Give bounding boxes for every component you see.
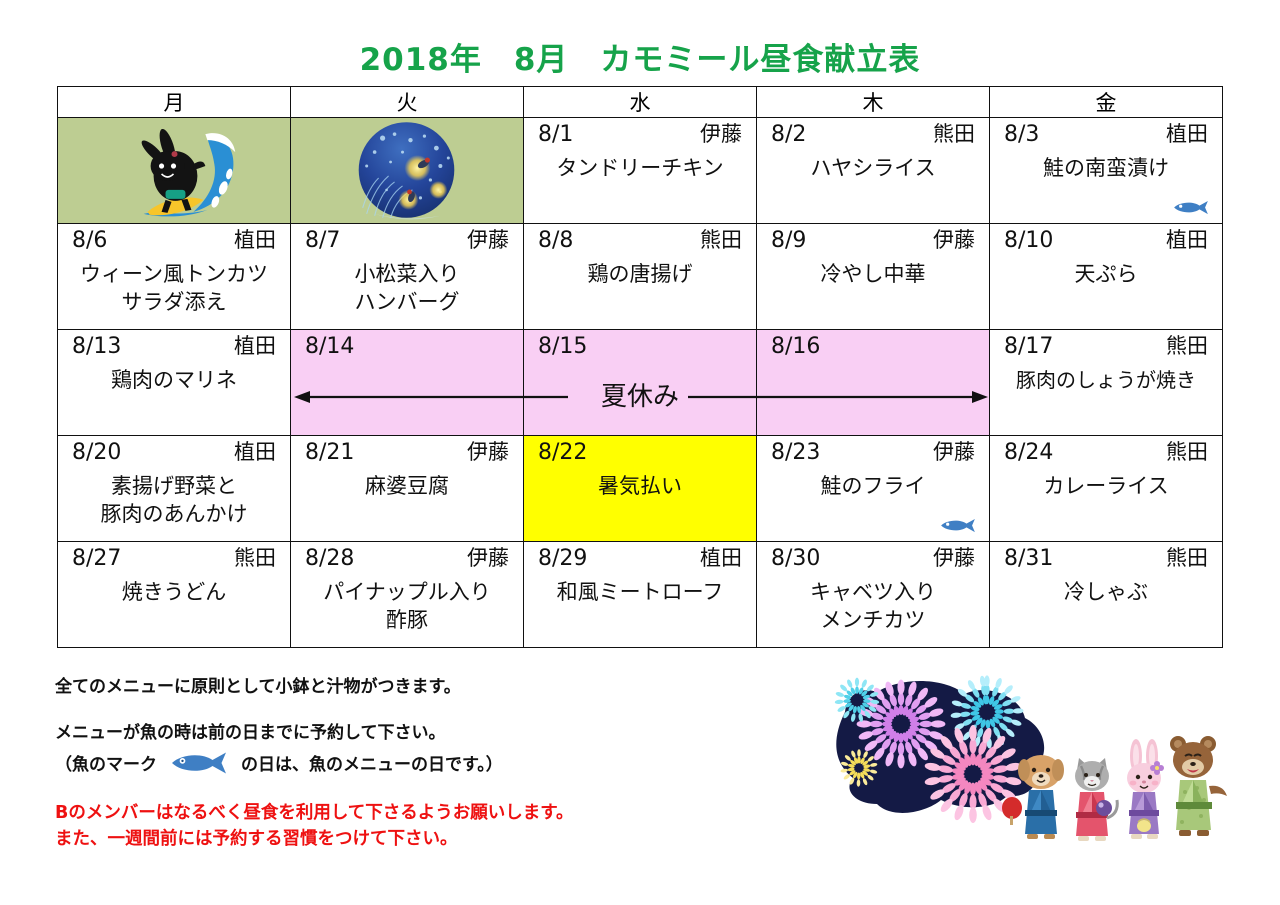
- weekday-header-wed: 水: [524, 87, 757, 118]
- cell-dateline: 8/20 植田: [58, 436, 290, 465]
- calendar-cell-08-20: 8/20 植田 素揚げ野菜と 豚肉のあんかけ: [58, 436, 291, 542]
- cell-staff: 熊田: [1166, 546, 1208, 570]
- cell-date: 8/8: [538, 228, 573, 253]
- rabbit-in-yukata: [1127, 739, 1164, 839]
- cell-menu: 天ぷら: [990, 261, 1222, 289]
- cell-menu: 暑気払い: [524, 473, 756, 501]
- cell-menu: 和風ミートローフ: [524, 579, 756, 607]
- calendar-cell-08-24: 8/24 熊田 カレーライス: [990, 436, 1223, 542]
- cell-dateline: 8/23 伊藤: [757, 436, 989, 465]
- fish-icon: [167, 751, 231, 775]
- cell-staff: 熊田: [1166, 440, 1208, 464]
- note-line-3: （魚のマーク の日は、魚のメニューの日です。）: [55, 750, 815, 775]
- calendar-week-row: 8/27 熊田 焼きうどん 8/28 伊藤 パイナップル入り 酢豚 8/29 植: [58, 542, 1223, 648]
- cell-date: 8/1: [538, 122, 573, 147]
- cell-menu: 麻婆豆腐: [291, 473, 523, 501]
- fish-icon: [1172, 200, 1210, 215]
- cell-staff: 植田: [1166, 122, 1208, 146]
- surfing-rabbit-icon: [58, 118, 290, 223]
- fish-icon: [939, 518, 977, 533]
- cell-dateline: 8/27 熊田: [58, 542, 290, 571]
- cell-date: 8/13: [72, 334, 121, 359]
- note-fish-suffix: の日は、魚のメニューの日です。）: [241, 750, 503, 775]
- cell-staff: 熊田: [700, 228, 742, 252]
- cell-staff: 伊藤: [700, 122, 742, 146]
- cell-staff: 植田: [700, 546, 742, 570]
- calendar-cell-08-14-holiday: 8/14: [291, 330, 524, 436]
- cell-dateline: 8/14: [291, 330, 523, 359]
- cell-date: 8/15: [538, 334, 587, 359]
- notes-section: 全てのメニューに原則として小鉢と汁物がつきます。 メニューが魚の時は前の日までに…: [55, 676, 815, 852]
- cell-menu: カレーライス: [990, 473, 1222, 501]
- calendar-cell-08-17: 8/17 熊田 豚肉のしょうが焼き: [990, 330, 1223, 436]
- cell-staff: 伊藤: [467, 440, 509, 464]
- cell-staff: 植田: [234, 440, 276, 464]
- cell-dateline: 8/15: [524, 330, 756, 359]
- cell-staff: 熊田: [234, 546, 276, 570]
- cell-menu: 鮭の南蛮漬け: [990, 155, 1222, 183]
- cell-dateline: 8/24 熊田: [990, 436, 1222, 465]
- cell-date: 8/2: [771, 122, 806, 147]
- cell-date: 8/14: [305, 334, 354, 359]
- cell-dateline: 8/17 熊田: [990, 330, 1222, 359]
- cell-staff: 熊田: [1166, 334, 1208, 358]
- weekday-header-mon: 月: [58, 87, 291, 118]
- cell-dateline: 8/16: [757, 330, 989, 359]
- cell-menu: タンドリーチキン: [524, 155, 756, 183]
- weekday-header-row: 月 火 水 木 金: [58, 87, 1223, 118]
- cell-menu: キャベツ入り メンチカツ: [757, 579, 989, 634]
- cell-date: 8/29: [538, 546, 587, 571]
- calendar-cell-08-06: 8/6 植田 ウィーン風トンカツ サラダ添え: [58, 224, 291, 330]
- cell-staff: 伊藤: [933, 228, 975, 252]
- cell-staff: 伊藤: [467, 228, 509, 252]
- calendar-cell-08-23: 8/23 伊藤 鮭のフライ: [757, 436, 990, 542]
- cell-dateline: 8/28 伊藤: [291, 542, 523, 571]
- cell-dateline: 8/29 植田: [524, 542, 756, 571]
- cell-dateline: 8/10 植田: [990, 224, 1222, 253]
- calendar-cell-08-27: 8/27 熊田 焼きうどん: [58, 542, 291, 648]
- cell-dateline: 8/9 伊藤: [757, 224, 989, 253]
- cat-in-yukata: [1075, 758, 1117, 841]
- cell-dateline: 8/1 伊藤: [524, 118, 756, 147]
- calendar-cell-08-31: 8/31 熊田 冷しゃぶ: [990, 542, 1223, 648]
- calendar-cell-08-30: 8/30 伊藤 キャベツ入り メンチカツ: [757, 542, 990, 648]
- firefly-night-icon: [291, 118, 523, 223]
- cell-dateline: 8/31 熊田: [990, 542, 1222, 571]
- calendar-cell-08-02: 8/2 熊田 ハヤシライス: [757, 118, 990, 224]
- weekday-header-thu: 木: [757, 87, 990, 118]
- calendar-week-row: 8/13 植田 鶏肉のマリネ 8/14 8/15 夏休み: [58, 330, 1223, 436]
- calendar-cell-illustration-surf: [58, 118, 291, 224]
- cell-dateline: 8/6 植田: [58, 224, 290, 253]
- cell-menu: 冷しゃぶ: [990, 579, 1222, 607]
- weekday-header-fri: 金: [990, 87, 1223, 118]
- calendar-cell-08-10: 8/10 植田 天ぷら: [990, 224, 1223, 330]
- cell-staff: 植田: [1166, 228, 1208, 252]
- cell-date: 8/30: [771, 546, 820, 571]
- calendar-cell-08-07: 8/7 伊藤 小松菜入り ハンバーグ: [291, 224, 524, 330]
- note-red-request: Bのメンバーはなるべく昼食を利用して下さるようお願いします。 また、一週間前には…: [55, 801, 815, 852]
- summer-break-label: 夏休み: [524, 376, 756, 413]
- cell-date: 8/28: [305, 546, 354, 571]
- calendar-cell-08-28: 8/28 伊藤 パイナップル入り 酢豚: [291, 542, 524, 648]
- cell-staff: 伊藤: [467, 546, 509, 570]
- cell-date: 8/22: [538, 440, 587, 465]
- cell-date: 8/24: [1004, 440, 1053, 465]
- cell-dateline: 8/13 植田: [58, 330, 290, 359]
- cell-staff: 熊田: [933, 122, 975, 146]
- cell-menu: パイナップル入り 酢豚: [291, 579, 523, 634]
- cell-dateline: 8/7 伊藤: [291, 224, 523, 253]
- weekday-header-tue: 火: [291, 87, 524, 118]
- cell-date: 8/16: [771, 334, 820, 359]
- cell-date: 8/3: [1004, 122, 1039, 147]
- cell-staff: 植田: [234, 334, 276, 358]
- calendar-cell-08-29: 8/29 植田 和風ミートローフ: [524, 542, 757, 648]
- cell-menu: 鶏肉のマリネ: [58, 367, 290, 395]
- calendar-cell-08-22-event: 8/22 暑気払い: [524, 436, 757, 542]
- cell-date: 8/20: [72, 440, 121, 465]
- calendar-cell-08-15-holiday: 8/15 夏休み: [524, 330, 757, 436]
- cell-staff: 伊藤: [933, 440, 975, 464]
- cell-date: 8/21: [305, 440, 354, 465]
- cell-dateline: 8/21 伊藤: [291, 436, 523, 465]
- cell-date: 8/6: [72, 228, 107, 253]
- cell-menu: 素揚げ野菜と 豚肉のあんかけ: [58, 473, 290, 528]
- page-title: 2018年 8月 カモミール昼食献立表: [0, 34, 1280, 79]
- cell-date: 8/7: [305, 228, 340, 253]
- cell-date: 8/17: [1004, 334, 1053, 359]
- calendar-cell-08-08: 8/8 熊田 鶏の唐揚げ: [524, 224, 757, 330]
- cell-date: 8/31: [1004, 546, 1053, 571]
- cell-date: 8/9: [771, 228, 806, 253]
- note-fish-prefix: （魚のマーク: [55, 750, 157, 775]
- bear-in-yukata: [1170, 736, 1227, 836]
- calendar-week-row: 8/20 植田 素揚げ野菜と 豚肉のあんかけ 8/21 伊藤 麻婆豆腐 8/22: [58, 436, 1223, 542]
- calendar-body: 8/1 伊藤 タンドリーチキン 8/2 熊田 ハヤシライス 8/3 植田: [58, 118, 1223, 648]
- cell-menu: 豚肉のしょうが焼き: [990, 367, 1222, 393]
- calendar-week-row: 8/6 植田 ウィーン風トンカツ サラダ添え 8/7 伊藤 小松菜入り ハンバー…: [58, 224, 1223, 330]
- calendar-container: 月 火 水 木 金: [57, 86, 1223, 648]
- note-line-1: 全てのメニューに原則として小鉢と汁物がつきます。: [55, 676, 815, 698]
- cell-dateline: 8/2 熊田: [757, 118, 989, 147]
- calendar-week-row: 8/1 伊藤 タンドリーチキン 8/2 熊田 ハヤシライス 8/3 植田: [58, 118, 1223, 224]
- cell-menu: 焼きうどん: [58, 579, 290, 607]
- cell-menu: 鶏の唐揚げ: [524, 261, 756, 289]
- calendar-cell-illustration-firefly: [291, 118, 524, 224]
- cell-menu: ハヤシライス: [757, 155, 989, 183]
- calendar-cell-08-21: 8/21 伊藤 麻婆豆腐: [291, 436, 524, 542]
- note-line-2: メニューが魚の時は前の日までに予約して下さい。: [55, 722, 815, 744]
- cell-menu: ウィーン風トンカツ サラダ添え: [58, 261, 290, 316]
- calendar-cell-08-13: 8/13 植田 鶏肉のマリネ: [58, 330, 291, 436]
- fireworks-and-animals-illustration: [815, 672, 1235, 887]
- calendar-cell-08-09: 8/9 伊藤 冷やし中華: [757, 224, 990, 330]
- calendar-cell-08-01: 8/1 伊藤 タンドリーチキン: [524, 118, 757, 224]
- cell-date: 8/10: [1004, 228, 1053, 253]
- cell-dateline: 8/8 熊田: [524, 224, 756, 253]
- cell-menu: 鮭のフライ: [757, 473, 989, 501]
- cell-dateline: 8/3 植田: [990, 118, 1222, 147]
- calendar-cell-08-03: 8/3 植田 鮭の南蛮漬け: [990, 118, 1223, 224]
- menu-calendar-table: 月 火 水 木 金: [57, 86, 1223, 648]
- cell-dateline: 8/30 伊藤: [757, 542, 989, 571]
- cell-staff: 伊藤: [933, 546, 975, 570]
- cell-staff: 植田: [234, 228, 276, 252]
- cell-dateline: 8/22: [524, 436, 756, 465]
- calendar-header: 月 火 水 木 金: [58, 87, 1223, 118]
- cell-menu: 冷やし中華: [757, 261, 989, 289]
- cell-date: 8/23: [771, 440, 820, 465]
- cell-date: 8/27: [72, 546, 121, 571]
- cell-menu: 小松菜入り ハンバーグ: [291, 261, 523, 316]
- calendar-cell-08-16-holiday: 8/16: [757, 330, 990, 436]
